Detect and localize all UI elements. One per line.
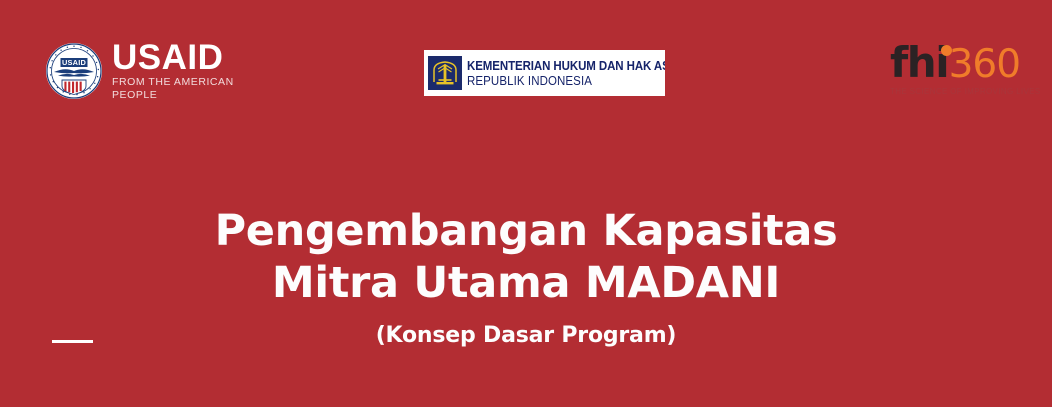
ministry-name-line2: REPUBLIK INDONESIA xyxy=(467,74,649,88)
fhi360-tagline: THE SCIENCE OF IMPROVING LIVES xyxy=(890,87,1010,96)
ministry-name-line1: KEMENTERIAN HUKUM DAN HAK ASASI MANUSIA xyxy=(467,59,649,73)
ministry-text: KEMENTERIAN HUKUM DAN HAK ASASI MANUSIA … xyxy=(467,59,665,88)
usaid-logo: USAID USAID FROM THE AMERICAN PEOPLE xyxy=(45,40,235,102)
title-slide: USAID USAID FROM THE AMERICAN PEOPLE xyxy=(0,0,1052,407)
usaid-seal-icon: USAID xyxy=(45,42,103,100)
slide-subtitle: (Konsep Dasar Program) xyxy=(0,322,1052,350)
fhi360-logo: fhi360 THE SCIENCE OF IMPROVING LIVES xyxy=(890,42,1010,100)
slide-title-line2: Mitra Utama MADANI xyxy=(0,257,1052,309)
usaid-wordmark-text: USAID xyxy=(112,41,235,74)
fhi360-mark: fhi360 xyxy=(890,42,1010,84)
ministry-logo: KEMENTERIAN HUKUM DAN HAK ASASI MANUSIA … xyxy=(424,50,665,96)
fhi360-mark-360: 360 xyxy=(949,42,1020,87)
ministry-emblem-icon xyxy=(428,56,462,90)
usaid-wordmark: USAID FROM THE AMERICAN PEOPLE xyxy=(112,41,235,102)
usaid-tagline: FROM THE AMERICAN PEOPLE xyxy=(112,76,235,102)
svg-text:USAID: USAID xyxy=(62,58,86,67)
slide-title: Pengembangan Kapasitas Mitra Utama MADAN… xyxy=(0,205,1052,309)
fhi360-mark-fh: fh xyxy=(890,38,935,87)
slide-title-line1: Pengembangan Kapasitas xyxy=(0,205,1052,257)
fhi360-accent-dot-icon xyxy=(941,45,952,56)
